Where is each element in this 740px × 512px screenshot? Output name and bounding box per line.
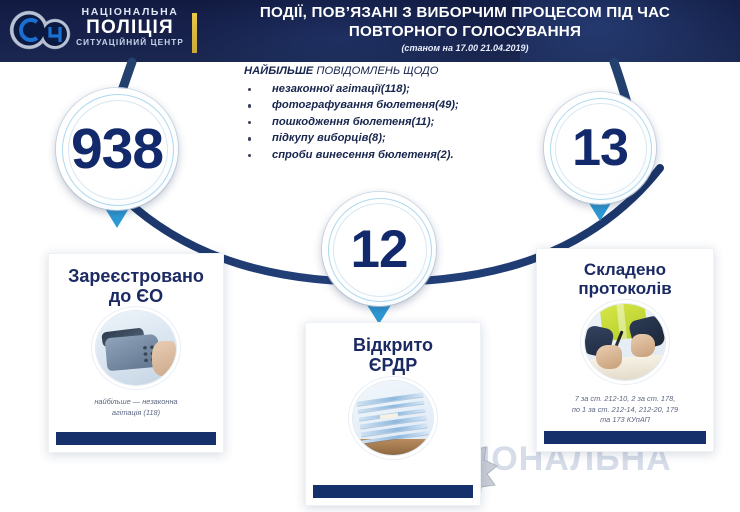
list-item: підкупу виборців(8);	[236, 130, 536, 146]
bullets-list: незаконної агітації(118); фотографування…	[236, 81, 536, 163]
pin-disc: 12	[322, 192, 436, 306]
card-protocols-filed: Складено протоколів 7 за ст. 212-10, 2 з…	[536, 248, 714, 452]
bullets-heading-rest: ПОВІДОМЛЕНЬ ЩОДО	[313, 65, 438, 77]
card-title-line-2: протоколів	[537, 279, 713, 298]
caption-line-2: агітація (118)	[57, 408, 215, 419]
marker-pin-938: 938	[56, 88, 178, 210]
card-title-line-1: Складено	[537, 260, 713, 279]
infographic-canvas: НАЦІОНАЛЬНА ПОЛІЦІЯ СИТУАЦІЙНИЙ ЦЕНТР ПО…	[0, 0, 740, 512]
card-bottom-bar	[56, 432, 216, 445]
card-title-line-2: ЄРДР	[306, 355, 480, 375]
documents-illustration	[353, 381, 433, 455]
writing-protocol-photo	[585, 304, 665, 380]
card-caption: найбільше — незаконна агітація (118)	[57, 397, 215, 418]
title-line-1: ПОДІЇ, ПОВ’ЯЗАНІ З ВИБОРЧИМ ПРОЦЕСОМ ПІД…	[192, 3, 738, 22]
marker-pin-13: 13	[544, 92, 656, 204]
list-item: пошкодження бюлетеня(11);	[236, 114, 536, 130]
marker-value: 938	[71, 121, 163, 178]
marker-pin-12: 12	[322, 192, 436, 306]
hand	[152, 341, 176, 377]
document-stack	[357, 393, 429, 443]
list-item: незаконної агітації(118);	[236, 81, 536, 97]
list-item: фотографування бюлетеня(49);	[236, 97, 536, 113]
card-title-line-1: Відкрито	[306, 335, 480, 355]
card-title-line-2: до ЄО	[49, 286, 223, 306]
list-item: спроби винесення бюлетеня(2).	[236, 147, 536, 163]
card-bottom-bar	[544, 431, 706, 444]
card-title: Складено протоколів	[537, 260, 713, 298]
caption-line-1: найбільше — незаконна	[57, 397, 215, 408]
bullets-heading: НАЙБІЛЬШЕ ПОВІДОМЛЕНЬ ЩОДО	[244, 64, 536, 79]
logo-line-police: ПОЛІЦІЯ	[68, 17, 192, 38]
top-messages-panel: НАЙБІЛЬШЕ ПОВІДОМЛЕНЬ ЩОДО незаконної аг…	[236, 64, 536, 163]
card-caption: 7 за ст. 212-10, 2 за ст. 178, по 1 за с…	[545, 394, 705, 426]
bullets-heading-strong: НАЙБІЛЬШЕ	[244, 65, 313, 77]
pin-disc: 938	[56, 88, 178, 210]
telephone-photo	[96, 311, 176, 385]
caption-line-3: та 173 КУпАП	[545, 415, 705, 426]
documents-photo	[353, 381, 433, 455]
card-registered-in-eo: Зареєстровано до ЄО найбільше — незаконн…	[48, 253, 224, 453]
card-title: Відкрито ЄРДР	[306, 335, 480, 375]
title-line-2: ПОВТОРНОГО ГОЛОСУВАННЯ	[192, 22, 738, 41]
hand-left	[596, 345, 622, 369]
caption-line-2: по 1 за ст. 212-14, 212-20, 179	[545, 405, 705, 416]
card-title-line-1: Зареєстровано	[49, 266, 223, 286]
hand-right	[631, 334, 655, 357]
telephone-illustration	[96, 311, 176, 385]
writing-illustration	[585, 304, 665, 380]
card-title: Зареєстровано до ЄО	[49, 266, 223, 306]
card-bottom-bar	[313, 485, 473, 498]
marker-value: 13	[572, 122, 628, 174]
caption-line-1: 7 за ст. 212-10, 2 за ст. 178,	[545, 394, 705, 405]
card-opened-erdr: Відкрито ЄРДР	[305, 322, 481, 506]
pin-disc: 13	[544, 92, 656, 204]
marker-value: 12	[351, 223, 408, 276]
